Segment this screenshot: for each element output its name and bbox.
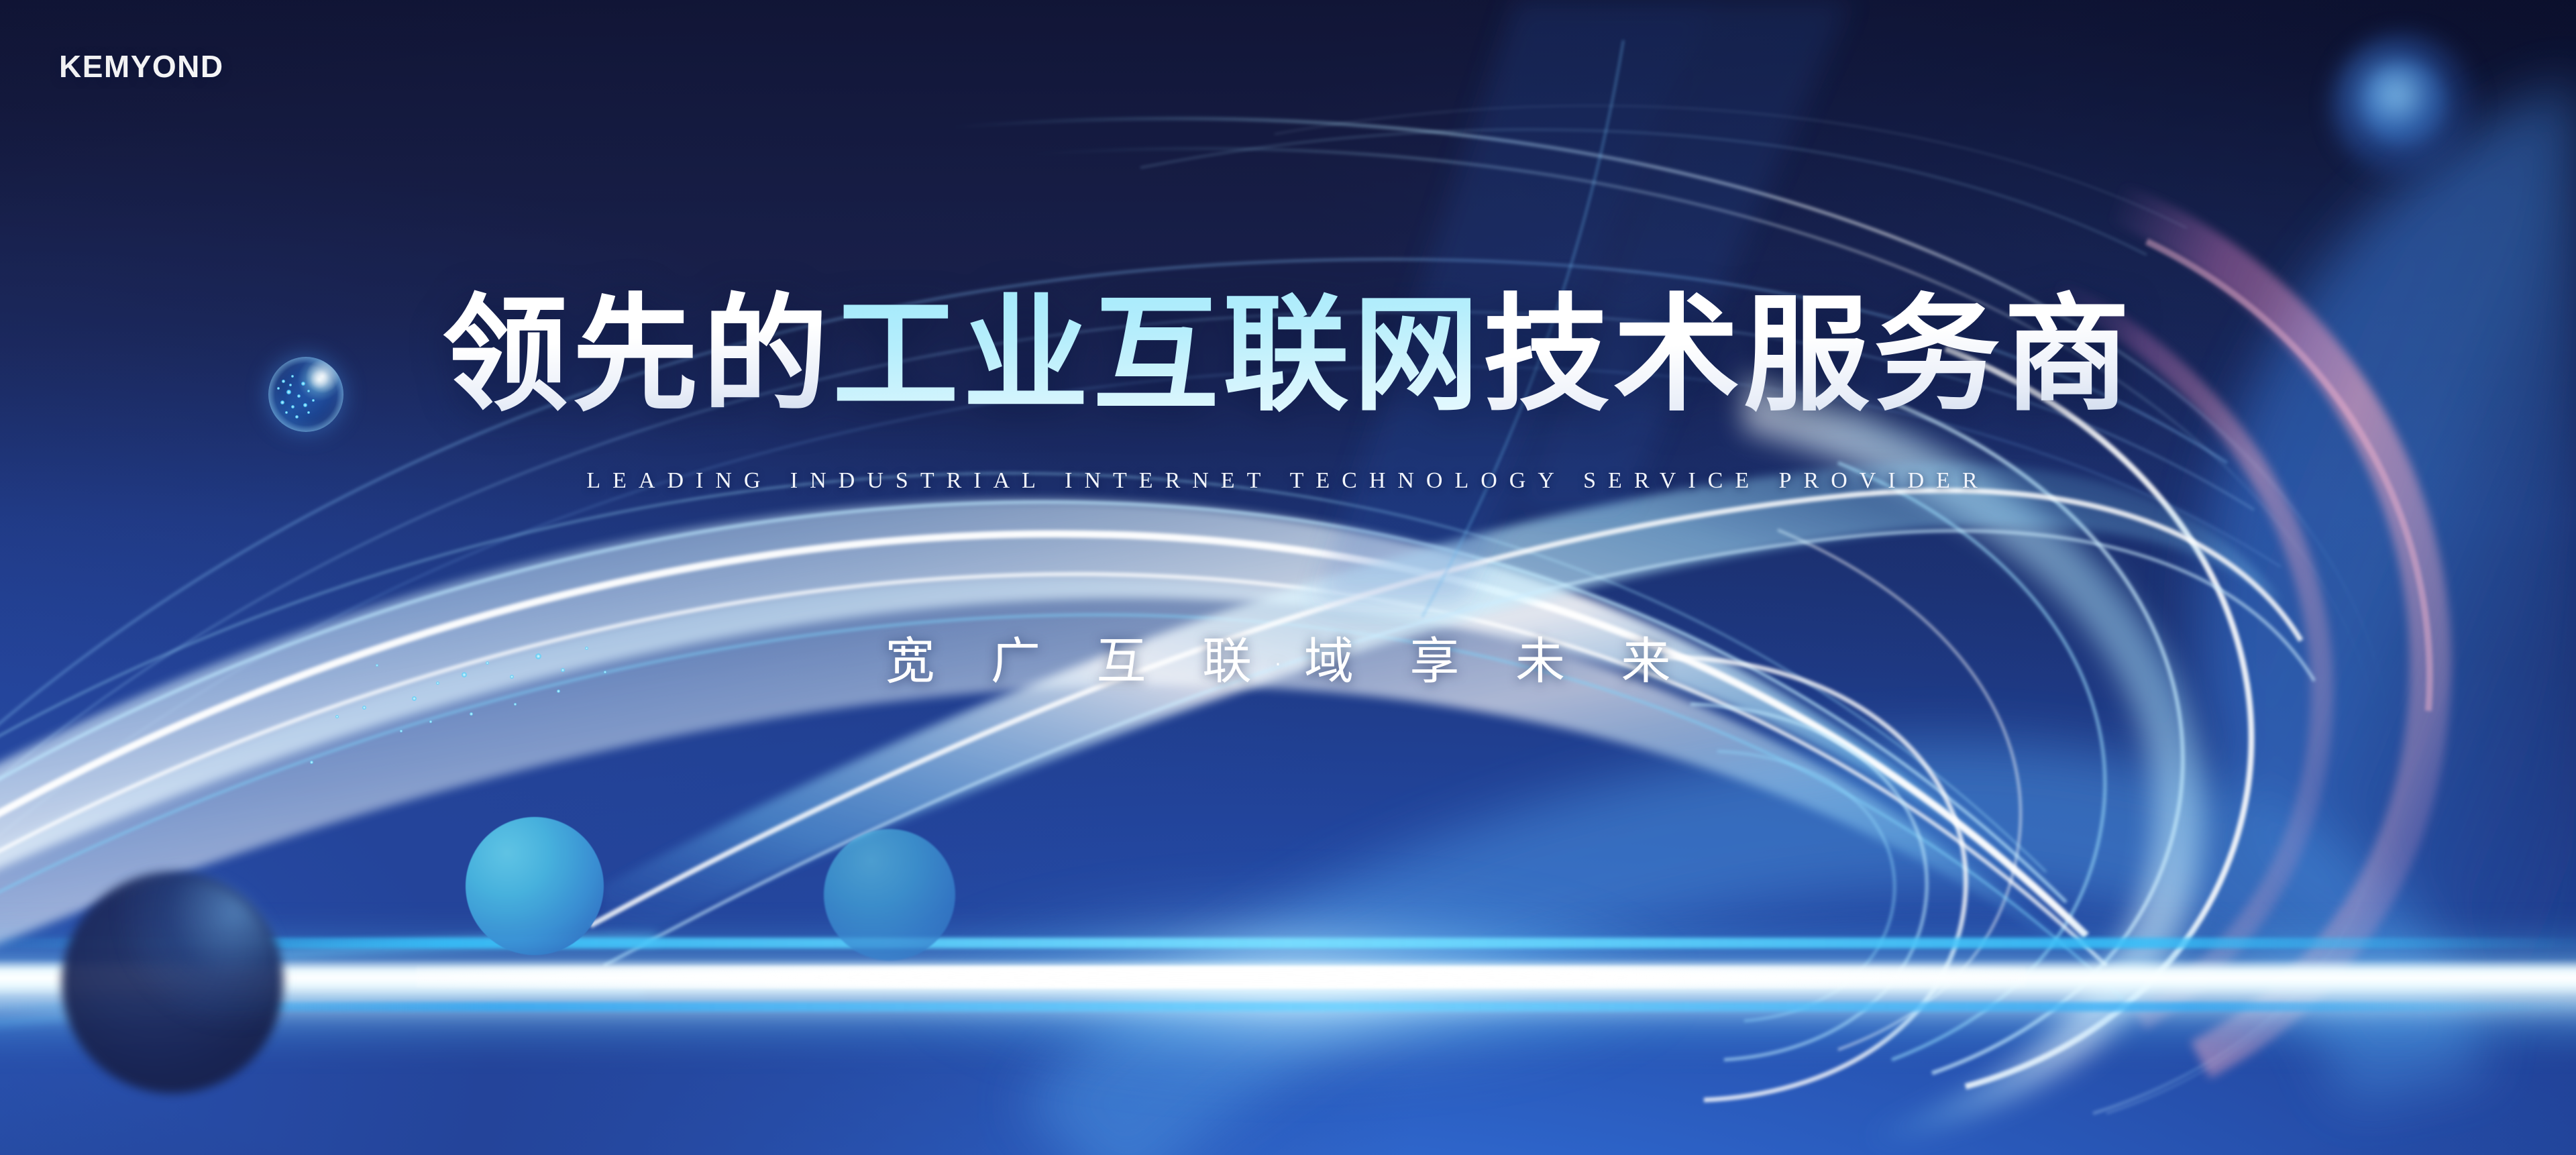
top-right-glow-sphere-icon [2332, 34, 2477, 178]
glass-sphere-icon [268, 357, 343, 432]
tagline: 宽 广 互 联·域 享 未 来 [0, 621, 2576, 693]
banner-content: KEMYOND 领先的工业互联网技术服务商 LEADING INDUSTRIAL… [0, 0, 2576, 1155]
background-topright-glow [0, 0, 2576, 1155]
headline-segment-3: 技术服务商 [1483, 282, 2134, 429]
beam-white-core [0, 959, 2576, 997]
background-corner-shade [0, 0, 2576, 1155]
top-right-glow-core [2361, 60, 2447, 146]
glass-sphere-rim [268, 357, 343, 432]
dark-bokeh-sphere-icon [62, 872, 283, 1093]
headline-segment-1: 领先的 [442, 282, 833, 429]
banner-canvas: KEMYOND 领先的工业互联网技术服务商 LEADING INDUSTRIAL… [0, 0, 2576, 1155]
cyan-sphere-icon [466, 817, 604, 955]
vignette-overlay [0, 0, 2576, 1155]
light-ribbon-swirl-icon [0, 0, 2576, 1155]
beam-hotspot [416, 966, 2026, 989]
cyan-sphere-secondary-icon [824, 829, 955, 960]
headline: 领先的工业互联网技术服务商 [0, 288, 2576, 422]
brand-logo[interactable]: KEMYOND [59, 48, 224, 85]
horizontal-light-beam-icon [0, 918, 2576, 1058]
tagline-separator: · [1272, 643, 1304, 686]
glass-sphere-dots [268, 357, 343, 432]
dark-bokeh-sphere-highlight [62, 872, 283, 1093]
background-bottom-glow [0, 0, 2576, 1155]
beam-burst-glow [792, 859, 1798, 1113]
beam-cyan-edge-bottom [0, 1002, 2576, 1011]
subtitle: LEADING INDUSTRIAL INTERNET TECHNOLOGY S… [0, 468, 2576, 494]
background-left-glow [0, 0, 2576, 1155]
tagline-right: 域 享 未 来 [1304, 632, 1691, 690]
background-top-shade [0, 0, 2576, 1155]
beam-cyan-edge-top [0, 938, 2576, 948]
particle-dots-icon [0, 0, 2576, 1155]
headline-segment-2: 工业互联网 [833, 282, 1483, 429]
tagline-left: 宽 广 互 联 [885, 632, 1273, 690]
